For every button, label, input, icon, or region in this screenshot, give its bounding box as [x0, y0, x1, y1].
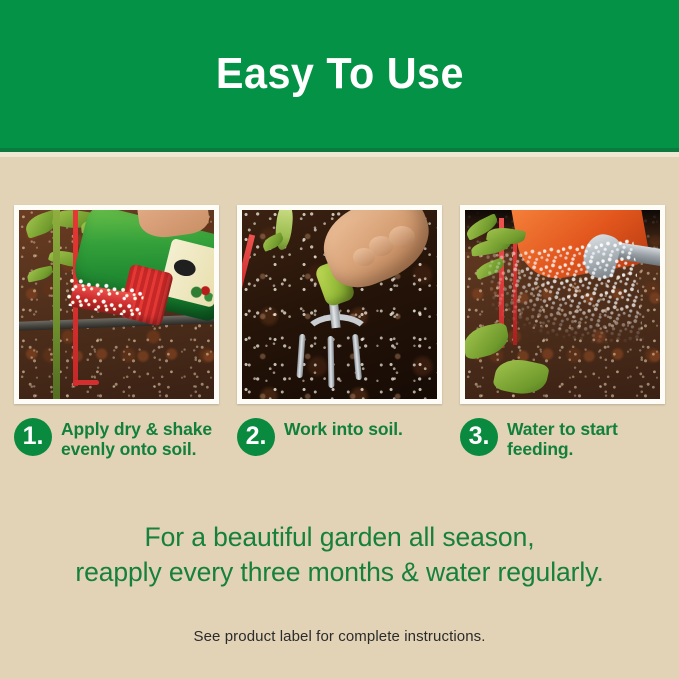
photo-work-into-soil — [242, 210, 437, 399]
step-item-2: 2. Work into soil. — [237, 418, 442, 460]
tagline-line-1: For a beautiful garden all season, — [0, 520, 679, 555]
cultivator-tine — [328, 336, 335, 388]
step-number-badge: 3. — [460, 418, 498, 456]
tagline: For a beautiful garden all season, reapp… — [0, 520, 679, 590]
photo-frame-1 — [14, 205, 219, 404]
label-plant-art — [188, 280, 214, 303]
photo-water-in — [465, 210, 660, 399]
photo-apply-shaker — [19, 210, 214, 399]
infographic-page: Easy To Use — [0, 0, 679, 679]
footer-disclaimer: See product label for complete instructi… — [0, 628, 679, 645]
step-label: Work into soil. — [284, 419, 403, 439]
page-title: Easy To Use — [215, 52, 463, 96]
photo-row — [14, 205, 665, 404]
step-number-badge: 2. — [237, 418, 275, 456]
step-number-badge: 1. — [14, 418, 52, 456]
plant-stem — [53, 210, 60, 399]
water-spray — [486, 239, 648, 394]
step-label: Water to start feeding. — [507, 419, 665, 460]
header-divider-light — [0, 152, 679, 157]
photo-frame-3 — [460, 205, 665, 404]
step-item-3: 3. Water to start feeding. — [460, 418, 665, 460]
steps-row: 1. Apply dry & shake evenly onto soil. 2… — [14, 418, 665, 460]
hand-knuckle — [353, 248, 375, 266]
step-item-1: 1. Apply dry & shake evenly onto soil. — [14, 418, 219, 460]
label-logo-dot — [172, 257, 197, 278]
step-label: Apply dry & shake evenly onto soil. — [61, 419, 219, 460]
tagline-line-2: reapply every three months & water regul… — [0, 555, 679, 590]
header-banner: Easy To Use — [0, 0, 679, 148]
photo-frame-2 — [237, 205, 442, 404]
plant-stake-foot — [73, 380, 99, 385]
